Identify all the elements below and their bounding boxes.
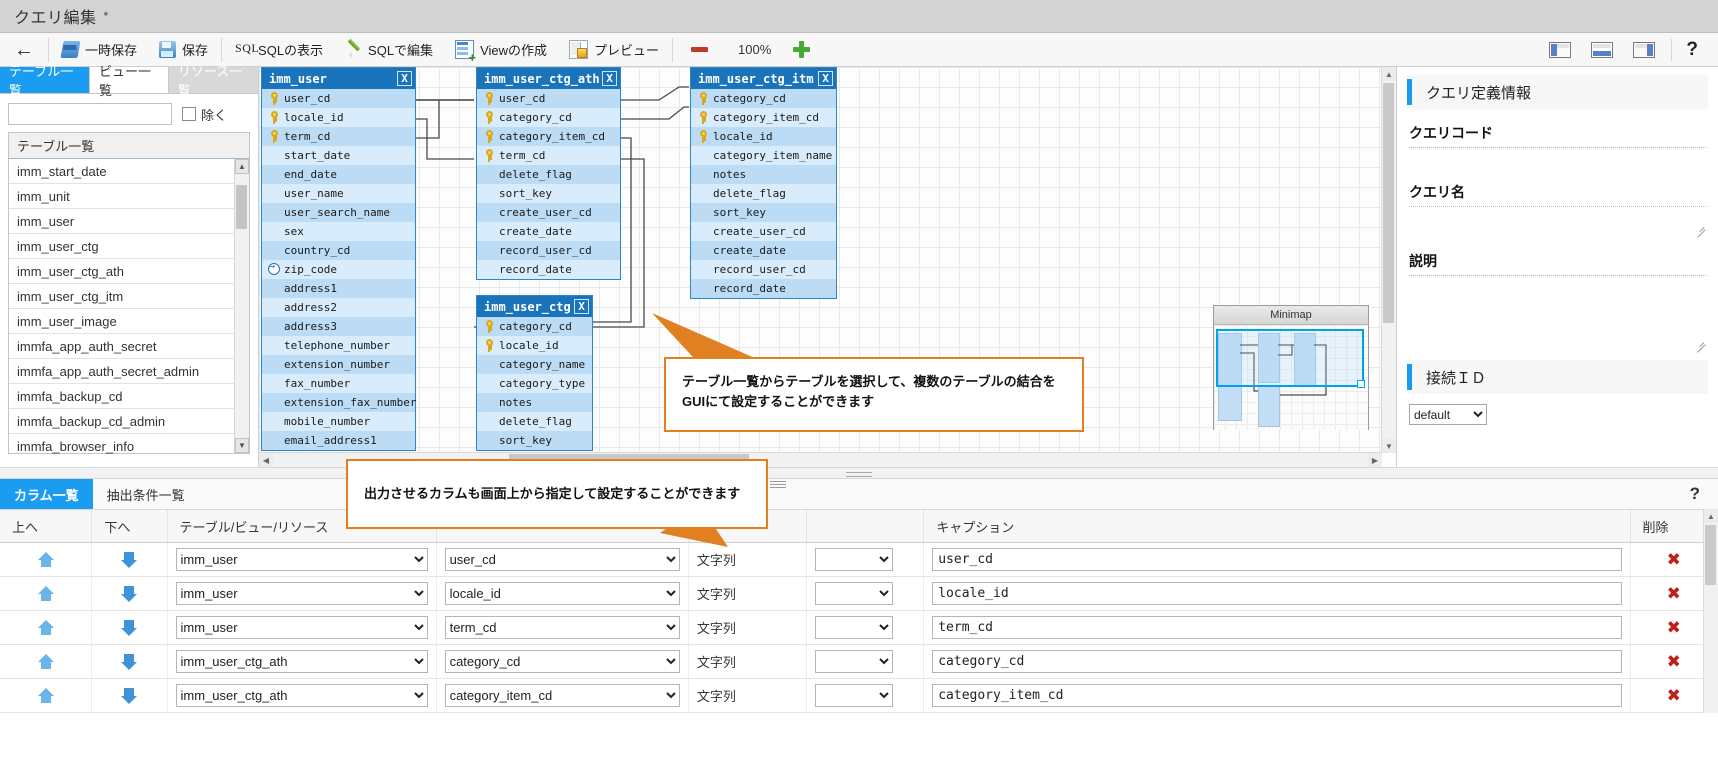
entity-column: record_date [691, 279, 836, 298]
main-toolbar: ← 一時保存 保存 SQL SQLの表示 SQLで編集 Viewの作成 プレビュ… [0, 33, 1718, 67]
column-label: category_type [499, 377, 585, 390]
scroll-thumb[interactable] [236, 185, 247, 229]
entity-column: address1 [262, 279, 415, 298]
sidebar-filter-row: 除く [0, 94, 258, 128]
zoom-out-button[interactable] [675, 33, 724, 67]
column-label: address3 [284, 320, 337, 333]
entity-imm_user_ctg[interactable]: imm_user_ctg X category_cd locale_id cat… [476, 295, 593, 451]
table-source-select[interactable]: imm_user [176, 548, 428, 571]
sql-text-icon: SQL [235, 41, 252, 58]
column-label: record_date [713, 282, 786, 295]
cell-function[interactable] [806, 577, 924, 611]
save-label: 保存 [182, 40, 208, 59]
entity-column: user_cd [477, 89, 620, 108]
delete-row-icon[interactable]: ✖ [1639, 687, 1710, 704]
zoom-level: 100% [724, 42, 785, 57]
column-label: record_date [499, 263, 572, 276]
bottom-scrollbar[interactable]: ▲ [1703, 509, 1718, 713]
col-move-up: 上へ [0, 510, 92, 543]
preview-icon [569, 40, 588, 59]
cell-move-up[interactable] [0, 645, 92, 679]
column-select[interactable]: category_cd [445, 650, 680, 673]
sidebar-tabs: テーブル一覧 ビュー一覧 リソース一覧 [0, 67, 258, 94]
zoom-in-icon [793, 41, 810, 58]
delete-row-icon[interactable]: ✖ [1639, 653, 1710, 670]
column-label: locale_id [284, 111, 344, 124]
entity-title: imm_user_ctg_ath [484, 72, 600, 86]
page-title: クエリ編集 [14, 4, 97, 28]
zoom-in-button[interactable] [785, 33, 818, 67]
entity-column: category_type [477, 374, 592, 393]
column-label: sort_key [499, 187, 552, 200]
label-query-name: クエリ名 [1409, 182, 1708, 202]
cell-move-up[interactable] [0, 611, 92, 645]
column-label: create_user_cd [499, 206, 592, 219]
caption-input[interactable] [932, 650, 1621, 673]
entity-title: imm_user_ctg_itm [698, 72, 814, 86]
cell-type: 文字列 [688, 679, 806, 713]
cell-move-up[interactable] [0, 543, 92, 577]
help-button[interactable]: ? [1671, 39, 1708, 61]
column-label: end_date [284, 168, 337, 181]
scroll-thumb[interactable] [1705, 525, 1716, 585]
entity-column: sort_key [691, 203, 836, 222]
column-label: category_item_cd [713, 111, 819, 124]
entity-column: term_cd [477, 146, 620, 165]
column-label: locale_id [713, 130, 773, 143]
exclude-label: 除く [201, 105, 227, 124]
edit-sql-button[interactable]: SQLで編集 [334, 33, 444, 67]
query-code-value[interactable] [1397, 148, 1718, 168]
left-sidebar: テーブル一覧 ビュー一覧 リソース一覧 除く テーブル一覧 imm_start_… [0, 67, 259, 467]
toolbar-divider [221, 38, 222, 62]
preview-button[interactable]: プレビュー [558, 33, 670, 67]
list-item[interactable]: imm_user_ctg [9, 234, 249, 259]
section-title: クエリ定義情報 [1426, 82, 1531, 103]
entity-column: country_cd [262, 241, 415, 260]
entity-imm_user_ctg_itm[interactable]: imm_user_ctg_itm X category_cd category_… [690, 67, 837, 299]
column-label: term_cd [284, 130, 330, 143]
cell-caption[interactable] [924, 543, 1630, 577]
entity-column: start_date [262, 146, 415, 165]
list-item[interactable]: imm_user [9, 209, 249, 234]
table-row: imm_user_ctg_ath category_item_cd 文字列 ✖ [0, 679, 1718, 713]
foreign-key-icon [268, 263, 281, 276]
entity-column: notes [691, 165, 836, 184]
tab-table-list[interactable]: テーブル一覧 [0, 67, 89, 93]
entity-header[interactable]: imm_user X [262, 68, 415, 89]
cell-function[interactable] [806, 679, 924, 713]
column-label: start_date [284, 149, 350, 162]
column-label: create_user_cd [713, 225, 806, 238]
grid-header-row: 上へ 下へ テーブル/ビュー/リソース キャプション 削除 [0, 510, 1718, 543]
entity-column: extension_number [262, 355, 415, 374]
primary-key-icon [697, 92, 710, 105]
entity-column: sort_key [477, 431, 592, 450]
column-label: user_cd [284, 92, 330, 105]
cell-move-down[interactable] [92, 611, 167, 645]
entity-column: category_name [477, 355, 592, 374]
entity-column: fax_number [262, 374, 415, 393]
entity-column: record_date [477, 260, 620, 279]
edit-sql-label: SQLで編集 [368, 40, 433, 59]
query-info-panel: クエリ定義情報 クエリコード クエリ名 説明 接続ＩＤ default [1396, 67, 1718, 467]
entity-column: create_date [477, 222, 620, 241]
entity-column: delete_flag [477, 412, 592, 431]
entity-column: sex [262, 222, 415, 241]
column-label: fax_number [284, 377, 350, 390]
move-up-icon[interactable] [39, 552, 53, 568]
cell-move-up[interactable] [0, 577, 92, 611]
list-item[interactable]: immfa_app_auth_secret_admin [9, 359, 249, 384]
entity-column: address2 [262, 298, 415, 317]
cell-function[interactable] [806, 543, 924, 577]
cell-move-down[interactable] [92, 577, 167, 611]
label-description: 説明 [1409, 251, 1708, 271]
column-label: delete_flag [499, 415, 572, 428]
tab-resource-list[interactable]: リソース一覧 [169, 67, 258, 93]
cell-table-source[interactable]: imm_user_ctg_ath [167, 645, 436, 679]
caption-input[interactable] [932, 582, 1621, 605]
panel-grip-handle[interactable] [770, 479, 786, 488]
column-label: sex [284, 225, 304, 238]
primary-key-icon [268, 92, 281, 105]
tab-view-list[interactable]: ビュー一覧 [89, 67, 169, 93]
table-row: imm_user term_cd 文字列 ✖ [0, 611, 1718, 645]
column-select[interactable]: term_cd [445, 616, 680, 639]
cell-caption[interactable] [924, 679, 1630, 713]
show-sql-label: SQLの表示 [258, 40, 323, 59]
entity-header[interactable]: imm_user_ctg X [477, 296, 592, 317]
function-select[interactable] [815, 548, 893, 571]
cell-table-source[interactable]: imm_user_ctg_ath [167, 679, 436, 713]
entity-column: end_date [262, 165, 415, 184]
function-select[interactable] [815, 684, 893, 707]
cell-table-source[interactable]: imm_user [167, 577, 436, 611]
column-label: category_item_name [713, 149, 832, 162]
cell-table-source[interactable]: imm_user [167, 611, 436, 645]
temp-save-label: 一時保存 [85, 40, 137, 59]
column-label: telephone_number [284, 339, 390, 352]
move-up-icon[interactable] [39, 688, 53, 704]
entity-column: locale_id [691, 127, 836, 146]
table-list: imm_start_date imm_unit imm_user imm_use… [9, 159, 249, 454]
section-accent-bar [1407, 364, 1412, 390]
col-caption: キャプション [924, 510, 1630, 543]
scroll-up-icon[interactable]: ▲ [1704, 509, 1718, 523]
cell-table-source[interactable]: imm_user [167, 543, 436, 577]
minimap-body[interactable] [1214, 325, 1368, 430]
entity-column: record_user_cd [477, 241, 620, 260]
bottom-help-button[interactable]: ? [1672, 479, 1718, 509]
entity-imm_user_ctg_ath[interactable]: imm_user_ctg_ath X user_cd category_cd c… [476, 67, 621, 280]
entity-column: user_name [262, 184, 415, 203]
entity-column: zip_code [262, 260, 415, 279]
column-label: create_date [499, 225, 572, 238]
cell-type: 文字列 [688, 577, 806, 611]
primary-key-icon [483, 339, 496, 352]
entity-column: locale_id [262, 108, 415, 127]
bottom-callout-text: 出力させるカラムも画面上から指定して設定することができます [364, 484, 740, 504]
entity-column: term_cd [262, 127, 415, 146]
column-label: user_cd [499, 92, 545, 105]
create-view-label: Viewの作成 [480, 40, 547, 59]
entity-column: category_item_name [691, 146, 836, 165]
entity-header[interactable]: imm_user_ctg_itm X [691, 68, 836, 89]
preview-label: プレビュー [594, 40, 659, 59]
entity-title: imm_user [269, 72, 327, 86]
column-label: user_name [284, 187, 344, 200]
entity-column: locale_id [477, 336, 592, 355]
diagram-callout: テーブル一覧からテーブルを選択して、複数のテーブルの結合を GUIにて設定するこ… [664, 357, 1084, 432]
column-label: country_cd [284, 244, 350, 257]
primary-key-icon [268, 130, 281, 143]
minimap-resize-handle[interactable] [1357, 380, 1365, 388]
entity-column: category_item_cd [691, 108, 836, 127]
list-item[interactable]: imm_user_ctg_itm [9, 284, 249, 309]
column-label: record_user_cd [499, 244, 592, 257]
entity-column: extension_fax_number [262, 393, 415, 412]
column-label: create_date [713, 244, 786, 257]
list-item[interactable]: imm_unit [9, 184, 249, 209]
resize-handle-icon[interactable] [1696, 342, 1706, 352]
list-item[interactable]: immfa_backup_cd [9, 384, 249, 409]
horizontal-splitter[interactable] [0, 467, 1718, 479]
create-view-button[interactable]: Viewの作成 [444, 33, 558, 67]
temp-save-icon [61, 41, 81, 58]
list-item[interactable]: imm_user_image [9, 309, 249, 334]
scroll-up-icon[interactable]: ▲ [235, 159, 249, 174]
bottom-panel: カラム一覧 抽出条件一覧 ? 上へ 下へ テーブル/ビュー/リソース キャプショ… [0, 479, 1718, 713]
table-row: imm_user locale_id 文字列 ✖ [0, 577, 1718, 611]
entity-column: delete_flag [691, 184, 836, 203]
modified-marker: * [104, 9, 109, 23]
query-name-value[interactable] [1409, 207, 1706, 237]
create-view-icon [455, 40, 474, 59]
primary-key-icon [697, 130, 710, 143]
column-label: delete_flag [499, 168, 572, 181]
column-definition-grid: 上へ 下へ テーブル/ビュー/リソース キャプション 削除 imm_user u… [0, 510, 1718, 713]
column-label: extension_number [284, 358, 390, 371]
scroll-down-icon[interactable]: ▼ [235, 438, 249, 453]
entity-column: notes [477, 393, 592, 412]
bottom-callout: 出力させるカラムも画面上から指定して設定することができます [346, 459, 768, 529]
function-select[interactable] [815, 650, 893, 673]
entity-column: category_cd [477, 317, 592, 336]
primary-key-icon [483, 92, 496, 105]
section-accent-bar [1407, 79, 1412, 105]
table-list-panel: テーブル一覧 imm_start_date imm_unit imm_user … [8, 132, 250, 454]
minimap-viewport[interactable] [1216, 329, 1364, 387]
toolbar-right-group: ? [1539, 39, 1718, 61]
column-label: delete_flag [713, 187, 786, 200]
diagram-callout-line2: GUIにて設定することができます [682, 392, 1066, 412]
primary-key-icon [483, 111, 496, 124]
panel-right-icon[interactable] [1633, 42, 1655, 58]
table-source-select[interactable]: imm_user_ctg_ath [176, 684, 428, 707]
column-label: category_cd [499, 111, 572, 124]
delete-row-icon[interactable]: ✖ [1639, 585, 1710, 602]
save-icon [159, 41, 176, 58]
zoom-out-icon [691, 47, 708, 52]
window-title-bar: クエリ編集 * [0, 0, 1718, 33]
column-label: sort_key [499, 434, 552, 447]
col-move-down: 下へ [92, 510, 167, 543]
entity-column: user_search_name [262, 203, 415, 222]
main-content-row: テーブル一覧 ビュー一覧 リソース一覧 除く テーブル一覧 imm_start_… [0, 67, 1718, 467]
description-value[interactable] [1409, 276, 1706, 352]
list-item[interactable]: imm_user_ctg_ath [9, 259, 249, 284]
close-icon[interactable]: X [818, 71, 833, 86]
primary-key-icon [697, 111, 710, 124]
move-down-icon[interactable] [122, 688, 136, 704]
entity-header[interactable]: imm_user_ctg_ath X [477, 68, 620, 89]
column-label: extension_fax_number [284, 396, 416, 409]
tab-filter-list[interactable]: 抽出条件一覧 [93, 479, 199, 509]
column-label: address1 [284, 282, 337, 295]
bottom-tabs: カラム一覧 抽出条件一覧 ? [0, 479, 1718, 510]
column-label: sort_key [713, 206, 766, 219]
table-list-header: テーブル一覧 [9, 133, 249, 159]
column-label: mobile_number [284, 415, 370, 428]
column-label: zip_code [284, 263, 337, 276]
cell-move-up[interactable] [0, 679, 92, 713]
function-select[interactable] [815, 582, 893, 605]
back-button[interactable]: ← [0, 40, 46, 60]
resize-handle-icon[interactable] [1696, 227, 1706, 237]
move-up-icon[interactable] [39, 620, 53, 636]
function-select[interactable] [815, 616, 893, 639]
cell-column[interactable]: locale_id [436, 577, 688, 611]
table-row: imm_user user_cd 文字列 ✖ [0, 543, 1718, 577]
section-query-definition: クエリ定義情報 [1407, 75, 1708, 109]
entity-column: telephone_number [262, 336, 415, 355]
exclude-checkbox-wrap[interactable]: 除く [182, 105, 227, 124]
delete-row-icon[interactable]: ✖ [1639, 551, 1710, 568]
toolbar-divider [672, 38, 673, 62]
column-label: email_address1 [284, 434, 377, 447]
cell-move-down[interactable] [92, 543, 167, 577]
diagram-callout-line1: テーブル一覧からテーブルを選択して、複数のテーブルの結合を [682, 372, 1066, 392]
entity-column: address3 [262, 317, 415, 336]
section-connection-id: 接続ＩＤ [1407, 360, 1708, 394]
entity-column: delete_flag [477, 165, 620, 184]
cell-caption[interactable] [924, 645, 1630, 679]
minimap[interactable]: Minimap [1213, 305, 1369, 430]
move-up-icon[interactable] [39, 654, 53, 670]
panel-left-icon[interactable] [1549, 42, 1571, 58]
cell-function[interactable] [806, 645, 924, 679]
cell-column[interactable]: category_cd [436, 645, 688, 679]
table-source-select[interactable]: imm_user_ctg_ath [176, 650, 428, 673]
entity-column: record_user_cd [691, 260, 836, 279]
column-label: user_search_name [284, 206, 390, 219]
entity-column: category_cd [691, 89, 836, 108]
entity-column: sort_key [477, 184, 620, 203]
delete-row-icon[interactable]: ✖ [1639, 619, 1710, 636]
column-label: notes [499, 396, 532, 409]
cell-move-down[interactable] [92, 645, 167, 679]
connection-id-select[interactable]: default [1409, 404, 1487, 425]
cell-function[interactable] [806, 611, 924, 645]
entity-title: imm_user_ctg [484, 300, 571, 314]
panel-bottom-icon[interactable] [1591, 42, 1613, 58]
caption-input[interactable] [932, 548, 1621, 571]
table-source-select[interactable]: imm_user [176, 582, 428, 605]
col-function [806, 510, 924, 543]
primary-key-icon [483, 130, 496, 143]
close-icon[interactable]: X [602, 71, 617, 86]
column-select[interactable]: locale_id [445, 582, 680, 605]
entity-column: category_cd [477, 108, 620, 127]
list-item[interactable]: imm_start_date [9, 159, 249, 184]
close-icon[interactable]: X [397, 71, 412, 86]
section-title: 接続ＩＤ [1426, 367, 1486, 388]
move-down-icon[interactable] [122, 654, 136, 670]
cell-type: 文字列 [688, 645, 806, 679]
minimap-title: Minimap [1214, 306, 1368, 325]
primary-key-icon [483, 149, 496, 162]
entity-column: user_cd [262, 89, 415, 108]
entity-column: create_date [691, 241, 836, 260]
caption-input[interactable] [932, 684, 1621, 707]
entity-column: mobile_number [262, 412, 415, 431]
toolbar-divider [48, 38, 49, 62]
entity-column: email_address1 [262, 431, 415, 450]
column-label: category_cd [499, 320, 572, 333]
column-label: category_item_cd [499, 130, 605, 143]
cell-type: 文字列 [688, 611, 806, 645]
primary-key-icon [268, 111, 281, 124]
column-label: locale_id [499, 339, 559, 352]
caption-input[interactable] [932, 616, 1621, 639]
move-down-icon[interactable] [122, 586, 136, 602]
move-down-icon[interactable] [122, 552, 136, 568]
table-filter-input[interactable] [8, 103, 172, 125]
primary-key-icon [483, 320, 496, 333]
column-label: category_cd [713, 92, 786, 105]
column-label: category_name [499, 358, 585, 371]
list-item[interactable]: immfa_app_auth_secret [9, 334, 249, 359]
cell-caption[interactable] [924, 577, 1630, 611]
column-label: notes [713, 168, 746, 181]
cell-move-down[interactable] [92, 679, 167, 713]
move-down-icon[interactable] [122, 620, 136, 636]
table-source-select[interactable]: imm_user [176, 616, 428, 639]
close-icon[interactable]: X [574, 299, 589, 314]
exclude-checkbox[interactable] [182, 107, 196, 121]
entity-column: create_user_cd [691, 222, 836, 241]
column-label: address2 [284, 301, 337, 314]
label-query-code: クエリコード [1409, 123, 1708, 143]
entity-column: create_user_cd [477, 203, 620, 222]
pencil-icon [345, 41, 362, 58]
list-item[interactable]: immfa_backup_cd_admin [9, 409, 249, 434]
move-up-icon[interactable] [39, 586, 53, 602]
cell-caption[interactable] [924, 611, 1630, 645]
table-row: imm_user_ctg_ath category_cd 文字列 ✖ [0, 645, 1718, 679]
cell-column[interactable]: category_item_cd [436, 679, 688, 713]
cell-column[interactable]: term_cd [436, 611, 688, 645]
entity-imm_user[interactable]: imm_user X user_cd locale_id term_cd sta… [261, 67, 416, 451]
tab-column-list[interactable]: カラム一覧 [0, 479, 93, 509]
entity-column: category_item_cd [477, 127, 620, 146]
table-list-scrollbar[interactable]: ▲ ▼ [234, 159, 249, 453]
column-label: record_user_cd [713, 263, 806, 276]
list-item[interactable]: immfa_browser_info [9, 434, 249, 454]
query-editor-app: クエリ編集 * ← 一時保存 保存 SQL SQLの表示 SQLで編集 View… [0, 0, 1718, 770]
column-select[interactable]: category_item_cd [445, 684, 680, 707]
